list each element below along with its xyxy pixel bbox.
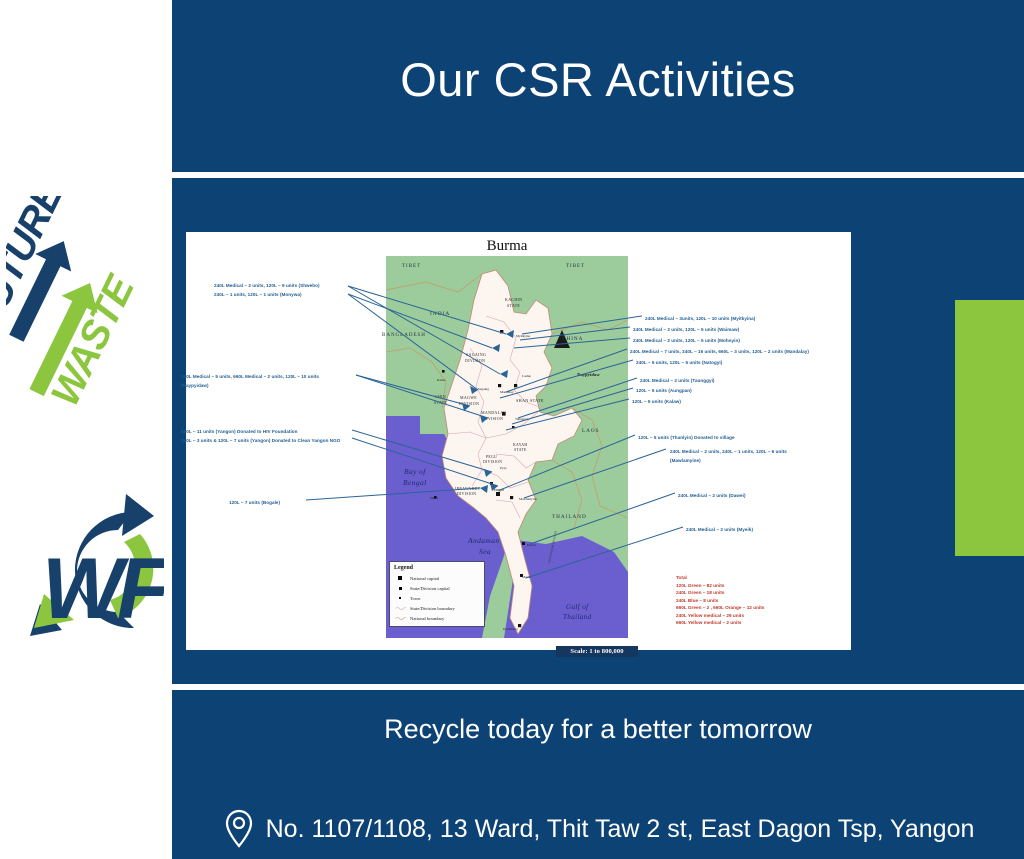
- legend-medium-square-icon: [399, 587, 402, 590]
- legend-small-square-icon: [399, 597, 401, 599]
- tagline: Recycle today for a better tomorrow: [172, 714, 1024, 745]
- address-text: No. 1107/1108, 13 Ward, Thit Taw 2 st, E…: [266, 815, 975, 844]
- totals-line: 240L Green – 18 units: [676, 589, 764, 597]
- annotation-mawlamyine2: (Mawlamyine): [670, 457, 701, 464]
- legend-item: National capital: [394, 573, 480, 583]
- annotation-taunggyi: 240L Medical – 2 units (Taunggyi): [640, 377, 715, 384]
- legend-item-label: National capital: [410, 576, 439, 581]
- map-scale-bar: Scale: 1 to 800,000: [556, 646, 638, 657]
- wf-badge-svg: WF: [14, 478, 164, 673]
- address-row: No. 1107/1108, 13 Ward, Thit Taw 2 st, E…: [172, 808, 1024, 850]
- annotation-dawei: 240L Medical – 2 units (Dawei): [678, 492, 746, 499]
- annotation-myitkyina: 240L Medical – 3units, 120L – 10 units (…: [645, 315, 755, 322]
- legend-item: National boundary: [394, 613, 480, 623]
- legend-item: Town: [394, 593, 480, 603]
- legend-item-label: State/Division capital: [410, 586, 450, 591]
- annotation-thanlyin: 120L – 5 units (Thanlyin) Donated to vil…: [638, 434, 735, 441]
- annotation-mandalay: 240L Medical – 7 units, 240L – 16 units,…: [630, 348, 809, 355]
- annotation-waimaw: 240L Medical – 2 units, 120L – 5 units (…: [633, 326, 739, 333]
- annotation-myeik: 240L Medical – 2 units (Myeik): [686, 526, 753, 533]
- poster-canvas: Our CSR Activities WASTE FUTURE: [0, 0, 1024, 859]
- annotation-cleanygn: 240L – 3 units & 120L – 7 units (Yangon)…: [181, 437, 340, 444]
- annotation-natogyi: 240L – 5 units, 120L – 5 units (Natogyi): [636, 359, 722, 366]
- map-pin-icon: [222, 808, 256, 850]
- wf-monogram-text: WF: [42, 541, 164, 637]
- totals-line: 660L Yellow medical – 2 units: [676, 619, 764, 627]
- legend-title: Legend: [394, 565, 480, 571]
- legend-symbol: [394, 587, 406, 590]
- map-legend: Legend National capitalState/Division ca…: [389, 561, 485, 627]
- legend-item: State/Division boundary: [394, 603, 480, 613]
- legend-symbol: [394, 597, 406, 599]
- legend-symbol: [394, 576, 406, 580]
- totals-line: 120L Green – 82 units: [676, 582, 764, 590]
- annotation-naypyidaw1: 240L Medical – 5 units, 660L Medical – 2…: [181, 373, 319, 380]
- wordmark-svg: WASTE FUTURE: [6, 196, 166, 446]
- page-title: Our CSR Activities: [172, 52, 1024, 107]
- legend-item-label: Town: [410, 596, 420, 601]
- totals-line: 240L Blue – 8 units: [676, 597, 764, 605]
- legend-item-label: State/Division boundary: [410, 606, 455, 611]
- map-title: Burma: [386, 238, 628, 255]
- totals-line: 240L Yellow medical – 29 units: [676, 612, 764, 620]
- wf-recycle-badge: WF: [14, 478, 164, 673]
- totals-title: Total: [676, 574, 764, 582]
- annotation-shwebo: 240L Medical – 2 units, 120L – 9 units (…: [214, 282, 320, 289]
- annotation-bogale: 120L – 7 units (Bogale): [229, 499, 280, 506]
- annotation-mohnyin: 240L Medical – 2 units, 120L – 5 units (…: [633, 337, 740, 344]
- legend-rows: National capitalState/Division capitalTo…: [394, 573, 480, 623]
- annotation-monywa: 240L – 1 units, 120L – 1 units (Monywa): [214, 291, 302, 298]
- logo-column: WASTE FUTURE WF: [0, 0, 172, 859]
- green-accent-block: [955, 300, 1024, 556]
- totals-line: 660L Green – 2 , 660L Orange – 12 units: [676, 604, 764, 612]
- annotation-kalaw: 120L – 5 units (Kalaw): [632, 398, 681, 405]
- legend-item-label: National boundary: [410, 616, 444, 621]
- waste-future-wordmark: WASTE FUTURE: [6, 196, 166, 446]
- annotation-naypyidaw2: (Naypyidaw): [181, 382, 209, 389]
- legend-symbol: [394, 606, 406, 610]
- legend-symbol: [394, 616, 406, 620]
- legend-item: State/Division capital: [394, 583, 480, 593]
- annotation-aungpan: 120L – 5 units (Aungpan): [636, 387, 692, 394]
- legend-pink-wavy-line-icon: [395, 606, 406, 610]
- annotation-mawlamyine1: 240L Medical – 2 units, 240L – 1 units, …: [670, 448, 787, 455]
- annotation-hiv: 660L – 11 units (Yangon) Donated to HIV …: [181, 428, 298, 435]
- legend-tan-wavy-line-icon: [395, 616, 406, 620]
- totals-summary: Total120L Green – 82 units240L Green – 1…: [676, 574, 764, 627]
- legend-large-square-icon: [398, 576, 402, 580]
